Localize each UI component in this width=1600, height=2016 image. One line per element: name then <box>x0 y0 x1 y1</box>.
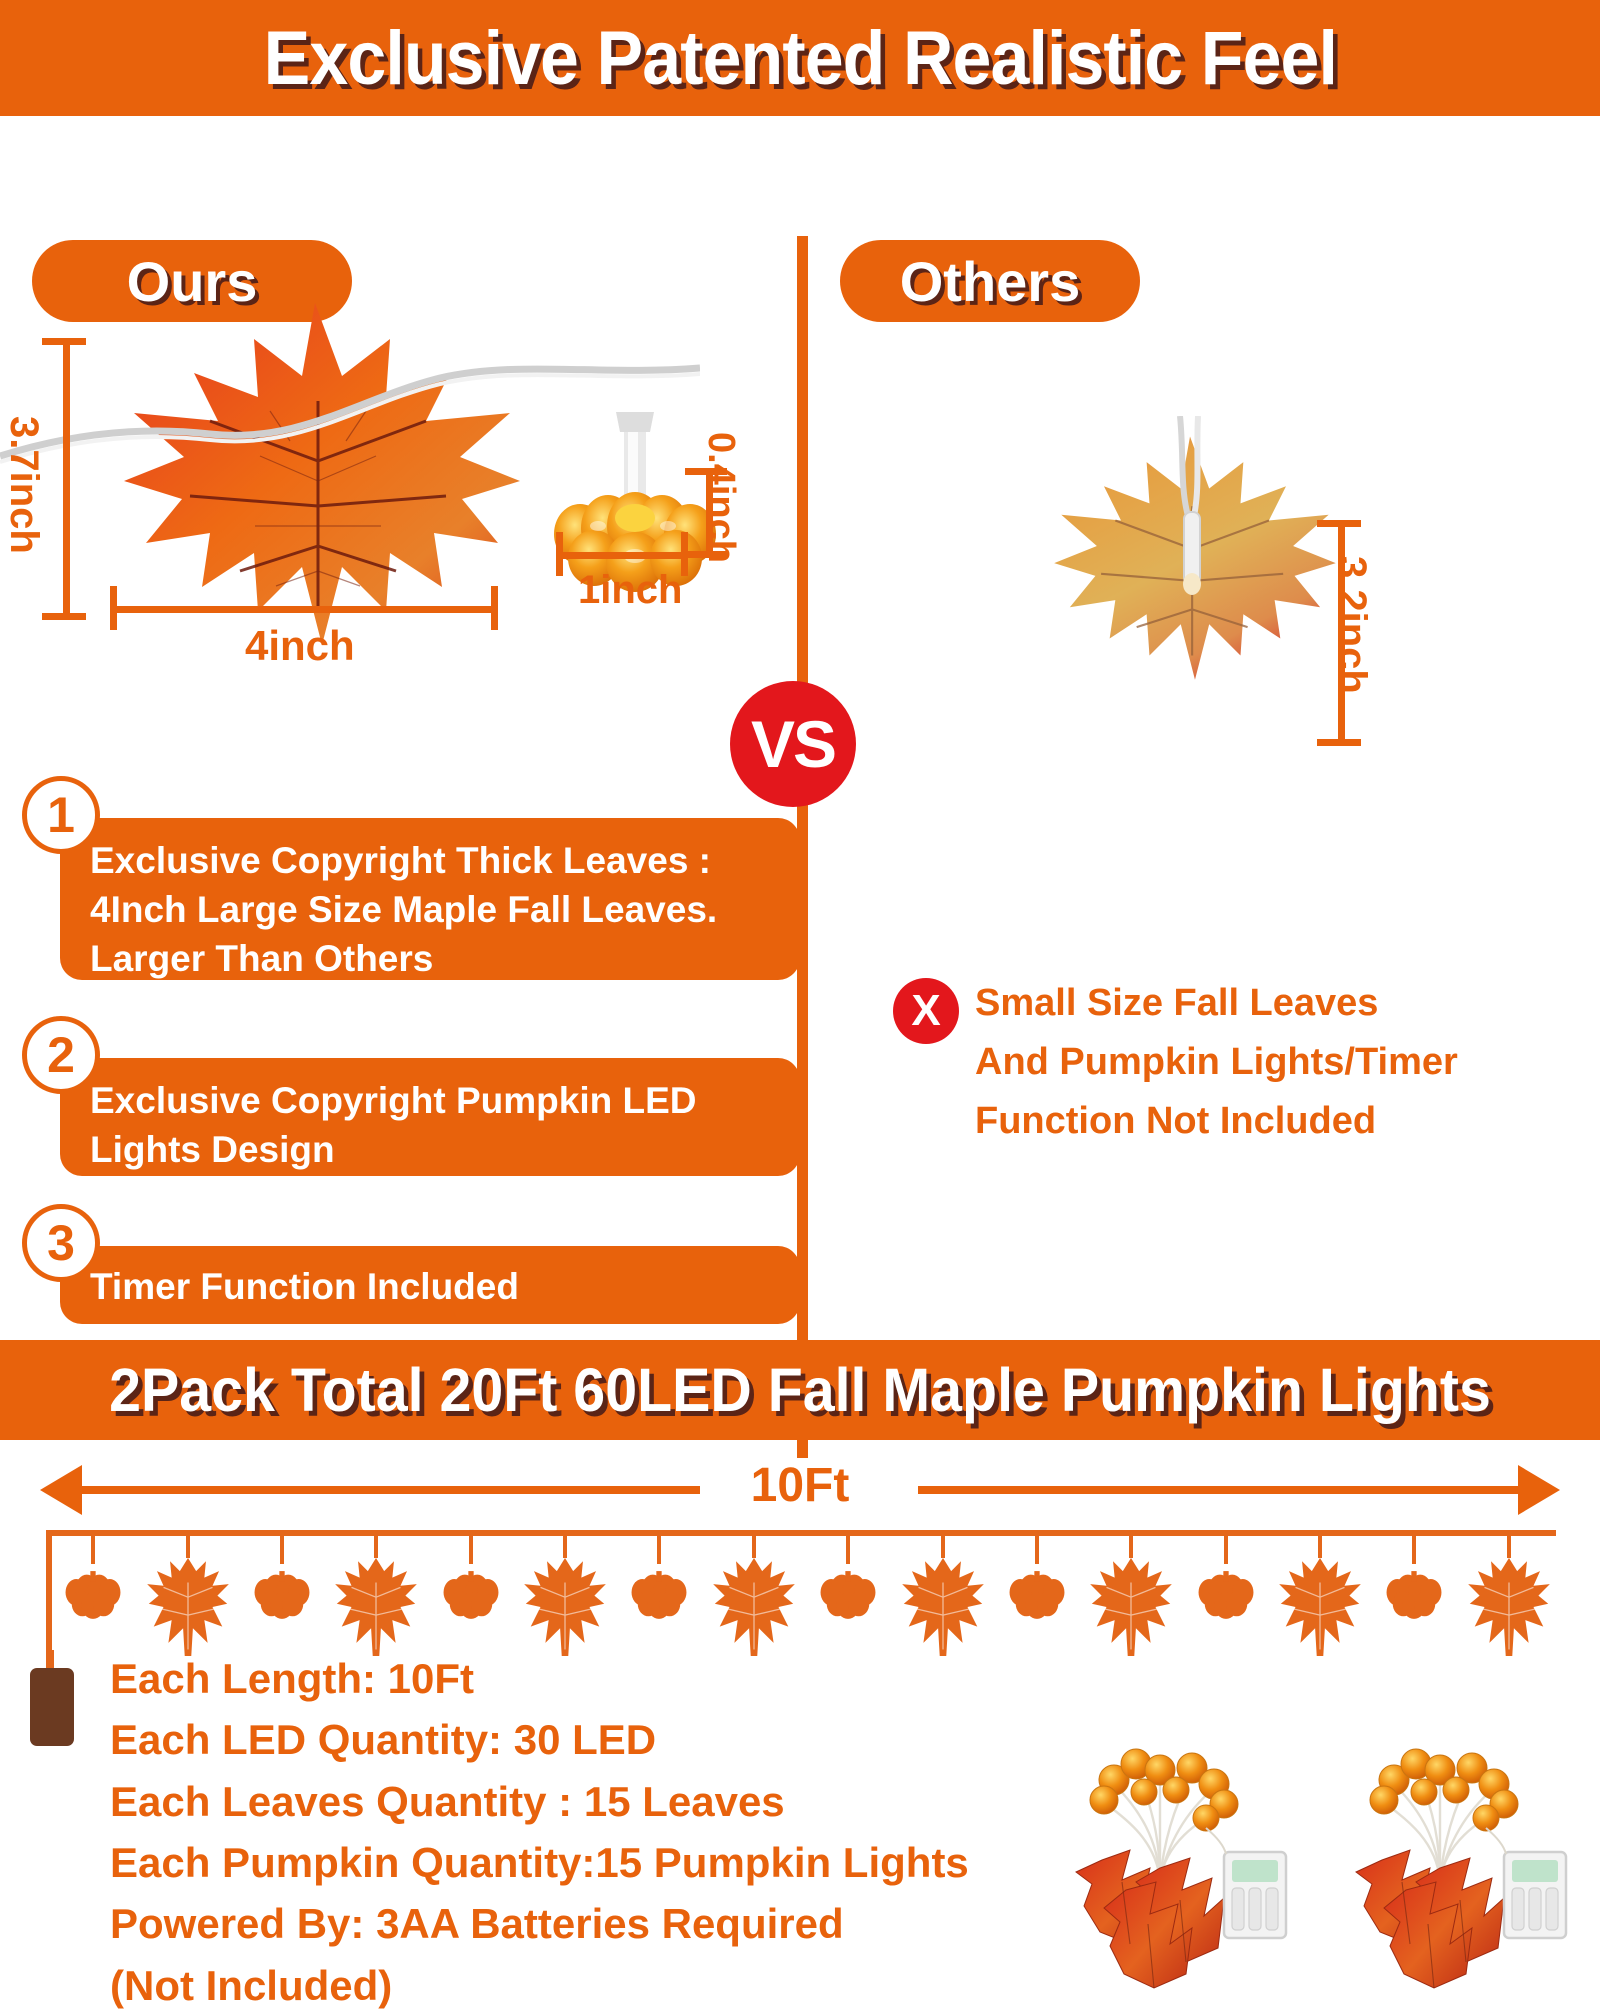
ornament-drop-wire <box>752 1530 756 1558</box>
our-height-cap-bottom <box>42 613 86 620</box>
comparison-section: Ours Others <box>0 116 1600 1340</box>
product-bundle-photo <box>1290 1700 1590 2000</box>
ornament-drop-wire <box>469 1530 473 1564</box>
feature-number-badge: 1 <box>22 776 100 854</box>
spec-line: Each Length: 10Ft <box>110 1648 1110 1709</box>
arrow-line-left <box>80 1486 700 1494</box>
length-label: 10Ft <box>733 1458 868 1513</box>
string-rail-horizontal <box>46 1530 1556 1536</box>
our-height-dimension-line <box>63 338 70 620</box>
feature-text-box: Timer Function Included <box>60 1246 800 1324</box>
ornament-drop-wire <box>280 1530 284 1564</box>
ornament-drop-wire <box>563 1530 567 1558</box>
maple-leaf-icon <box>335 1558 417 1656</box>
spec-line: Each LED Quantity: 30 LED <box>110 1709 1110 1770</box>
feature-number-badge: 3 <box>22 1204 100 1282</box>
pumpkin-icon <box>817 1564 879 1626</box>
ornament-drop-wire <box>1412 1530 1416 1564</box>
feature-text: Exclusive Copyright Thick Leaves : 4Inch… <box>90 840 717 979</box>
pumpkin-icon <box>251 1564 313 1626</box>
pumpkin-icon <box>440 1564 502 1626</box>
battery-box-icon <box>30 1668 74 1746</box>
spec-line: Each Leaves Quantity : 15 Leaves <box>110 1771 1110 1832</box>
product-banner: 2Pack Total 20Ft 60LED Fall Maple Pumpki… <box>0 1340 1600 1440</box>
our-width-label: 4inch <box>245 622 355 670</box>
feature-text: Exclusive Copyright Pumpkin LED Lights D… <box>90 1080 697 1170</box>
ornament-drop-wire <box>91 1530 95 1564</box>
product-bundle-photo <box>1010 1700 1310 2000</box>
spec-list: Each Length: 10Ft Each LED Quantity: 30 … <box>110 1648 1110 2016</box>
our-height-label: 3.7inch <box>1 416 46 554</box>
x-mark-icon: X <box>893 978 959 1044</box>
feature-text-box: Exclusive Copyright Pumpkin LED Lights D… <box>60 1058 800 1176</box>
others-drawbacks-list: Small Size Fall Leaves And Pumpkin Light… <box>975 974 1575 1151</box>
feature-number: 3 <box>47 1214 75 1272</box>
others-label-text: Others <box>900 249 1081 314</box>
page-title: Exclusive Patented Realistic Feel <box>263 15 1336 102</box>
ornament-drop-wire <box>186 1530 190 1558</box>
maple-leaf-icon <box>713 1558 795 1656</box>
ornament-drop-wire <box>657 1530 661 1564</box>
maple-leaf-icon <box>147 1558 229 1656</box>
feature-text-box: Exclusive Copyright Thick Leaves : 4Inch… <box>60 818 800 980</box>
ornament-drop-wire <box>374 1530 378 1558</box>
our-height-cap-top <box>42 338 86 345</box>
arrow-head-right-icon <box>1518 1465 1560 1515</box>
our-width-dimension-line <box>110 606 498 613</box>
feature-number: 1 <box>47 786 75 844</box>
bulb-height-label: 0.4inch <box>699 432 742 563</box>
feature-number: 2 <box>47 1026 75 1084</box>
ornament-drop-wire <box>941 1530 945 1558</box>
spec-line: Powered By: 3AA Batteries Required <box>110 1893 1110 1954</box>
pumpkin-icon <box>628 1564 690 1626</box>
bulb-width-label: 1inch <box>578 568 682 613</box>
others-led-wire <box>1140 416 1260 616</box>
pumpkin-icon <box>1006 1564 1068 1626</box>
arrow-line-right <box>918 1486 1518 1494</box>
header-banner: Exclusive Patented Realistic Feel <box>0 0 1600 116</box>
others-drawback-line: And Pumpkin Lights/Timer <box>975 1033 1575 1092</box>
pumpkin-icon <box>1383 1564 1445 1626</box>
arrow-head-left-icon <box>40 1465 82 1515</box>
maple-leaf-icon <box>1468 1558 1550 1656</box>
feature-number-badge: 2 <box>22 1016 100 1094</box>
our-width-cap-right <box>491 586 498 630</box>
pumpkin-icon <box>1195 1564 1257 1626</box>
others-height-cap-bottom <box>1317 739 1361 746</box>
length-arrow: 10Ft <box>40 1462 1560 1518</box>
maple-leaf-icon <box>1279 1558 1361 1656</box>
others-drawback-line: Function Not Included <box>975 1092 1575 1151</box>
feature-text: Timer Function Included <box>90 1266 519 1307</box>
bulb-width-dimension-line <box>556 552 688 559</box>
ornament-drop-wire <box>846 1530 850 1564</box>
ornament-drop-wire <box>1507 1530 1511 1558</box>
product-banner-title: 2Pack Total 20Ft 60LED Fall Maple Pumpki… <box>109 1355 1491 1425</box>
ornament-drop-wire <box>1035 1530 1039 1564</box>
ornament-drop-wire <box>1224 1530 1228 1564</box>
maple-leaf-icon <box>902 1558 984 1656</box>
ornament-drop-wire <box>1129 1530 1133 1558</box>
others-height-cap-top <box>1317 520 1361 527</box>
others-drawback-line: Small Size Fall Leaves <box>975 974 1575 1033</box>
ornament-drop-wire <box>1318 1530 1322 1558</box>
pumpkin-icon <box>62 1564 124 1626</box>
others-label-pill: Others <box>840 240 1140 322</box>
vs-badge: VS <box>730 681 856 807</box>
our-width-cap-left <box>110 586 117 630</box>
vs-label: VS <box>751 706 835 782</box>
x-mark-label: X <box>911 986 940 1036</box>
maple-leaf-icon <box>1090 1558 1172 1656</box>
others-height-label: 3.2inch <box>1329 556 1374 694</box>
infographic-page: Exclusive Patented Realistic Feel Ours O… <box>0 0 1600 2000</box>
spec-line: Each Pumpkin Quantity:15 Pumpkin Lights <box>110 1832 1110 1893</box>
bulb-width-cap-left <box>556 532 563 576</box>
maple-leaf-icon <box>524 1558 606 1656</box>
spec-line: (Not Included) <box>110 1955 1110 2016</box>
